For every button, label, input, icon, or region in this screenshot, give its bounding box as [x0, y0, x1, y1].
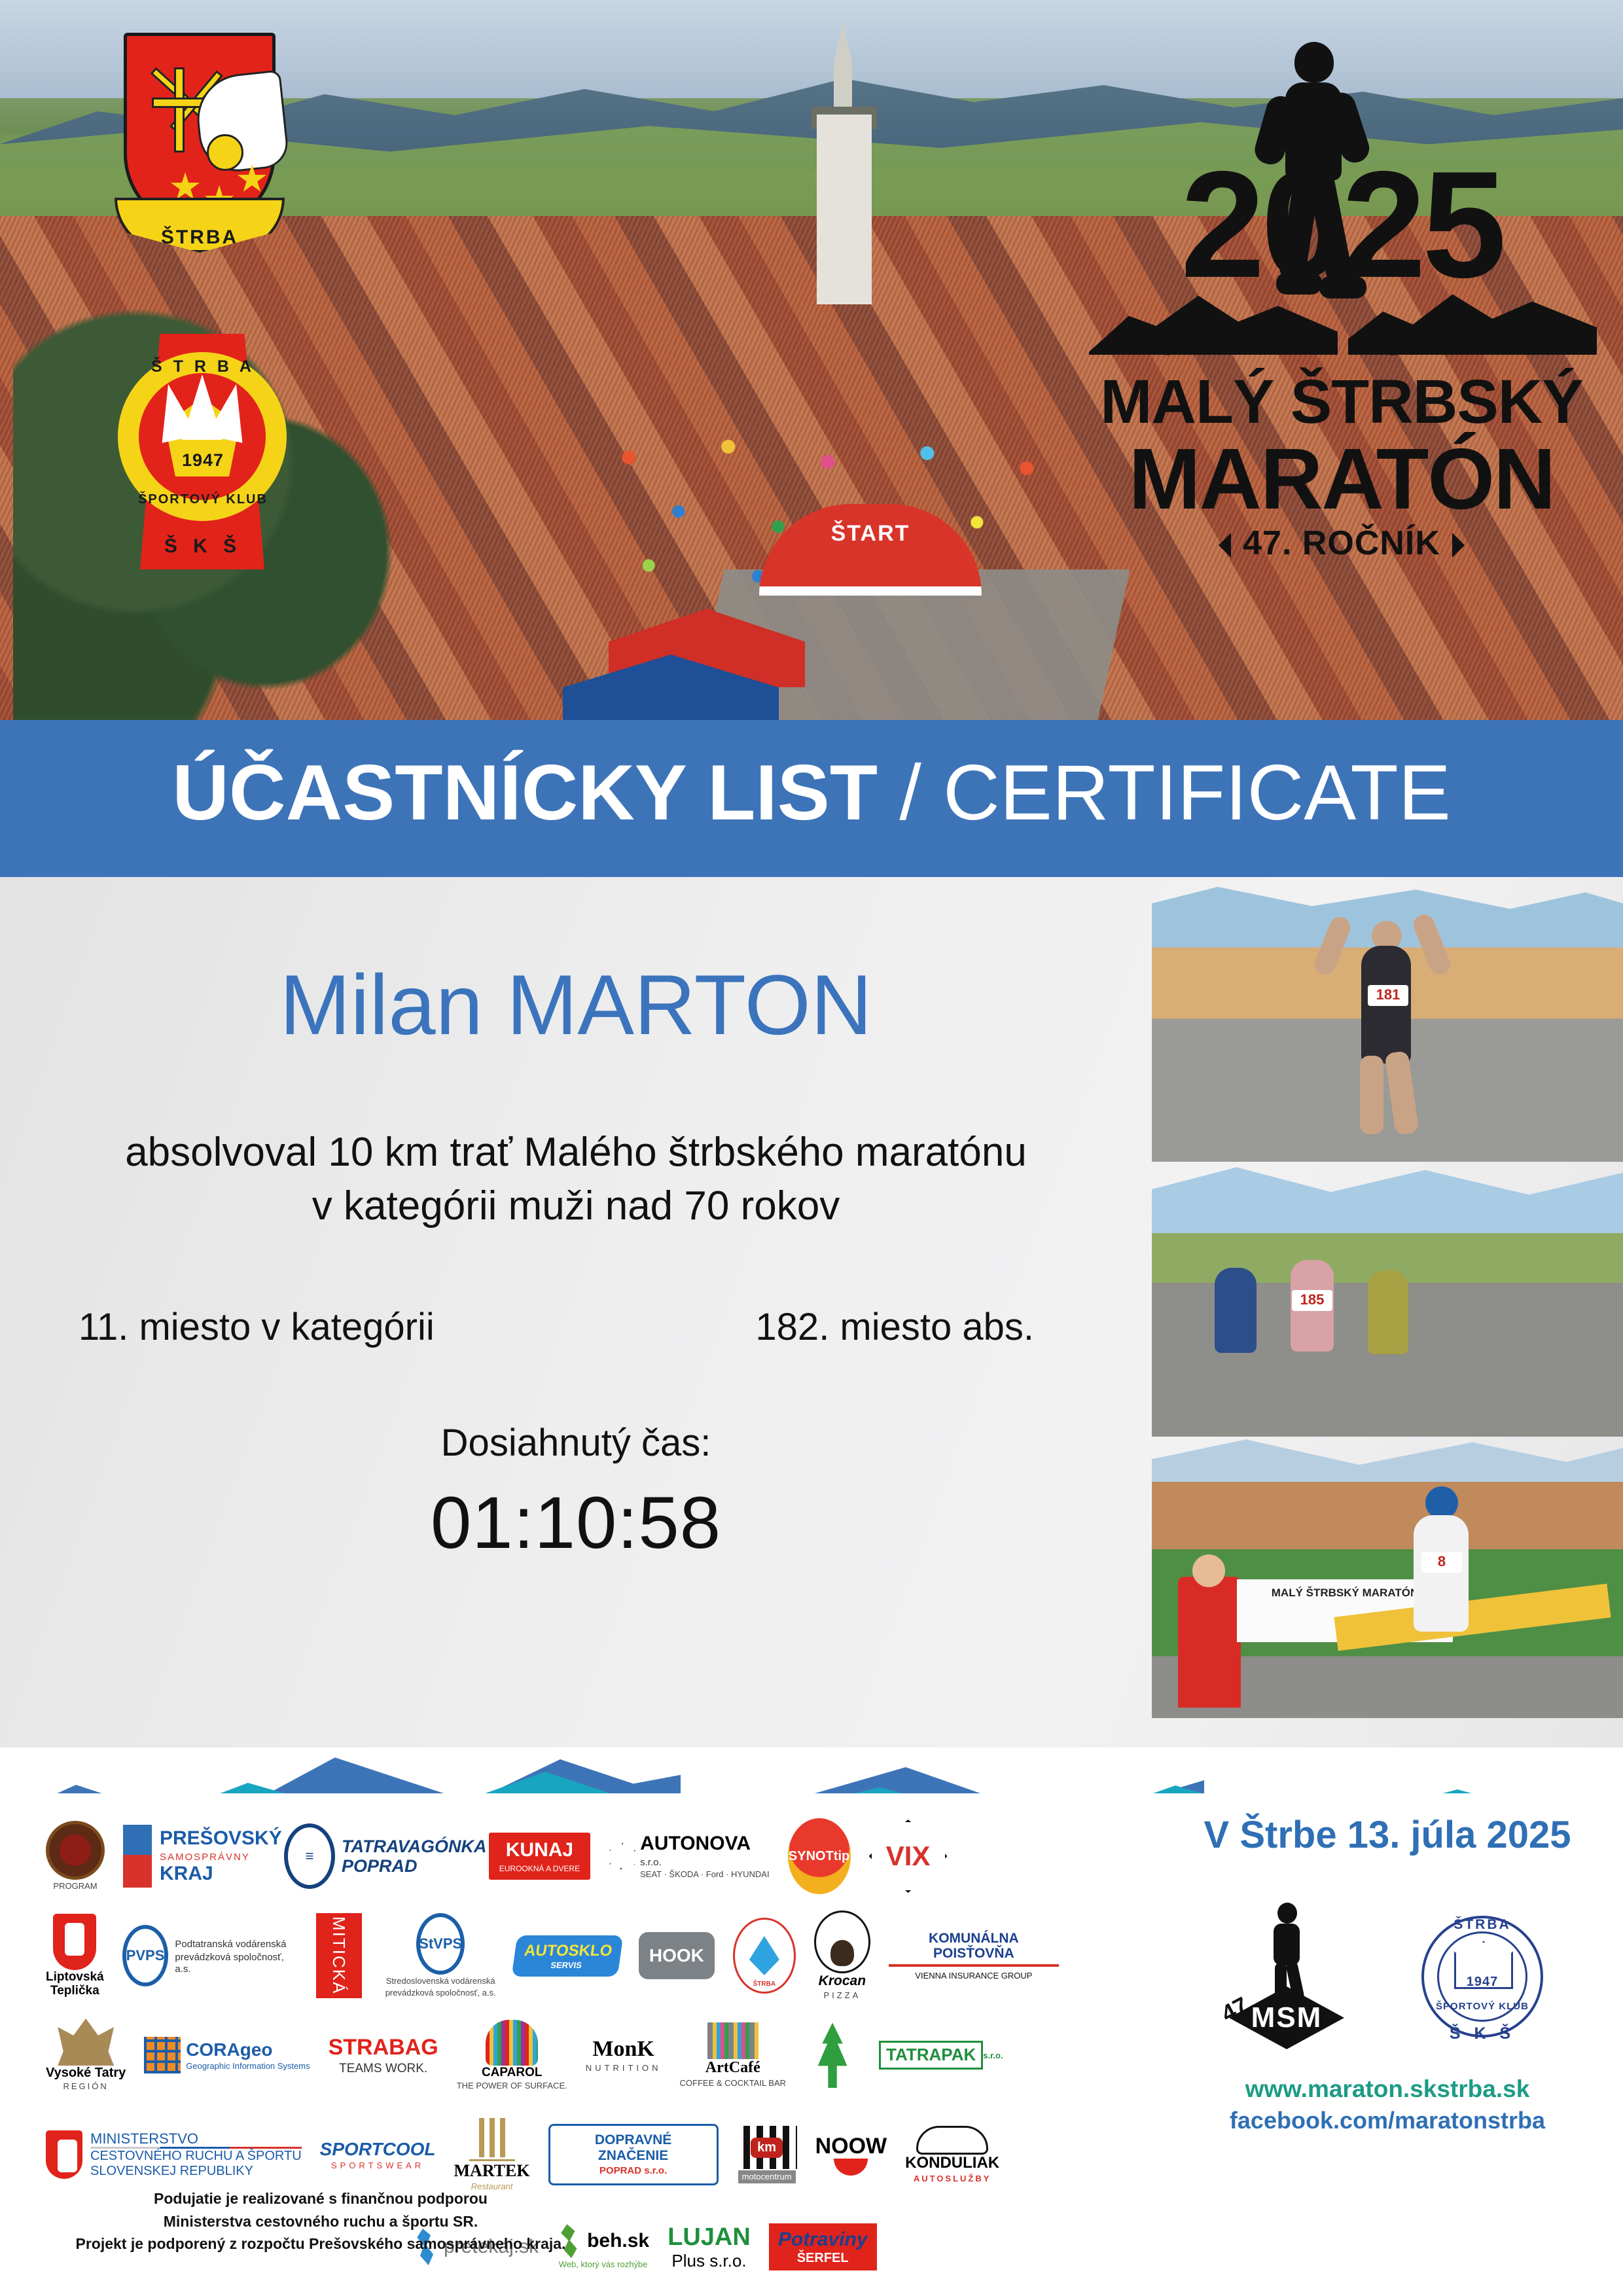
sponsor-sub: s.r.o.: [640, 1857, 769, 1868]
footer-stamps: 47. MSM ŠTRBA 1947 ŠPORTOVÝ KLUB Š K Š: [1171, 1903, 1603, 2053]
pd-strba-seal-icon: ŠTRBA: [733, 1918, 796, 1994]
sponsor-sub2: SLOVENSKEJ REPUBLIKY: [90, 2164, 302, 2178]
bib-number: 181: [1368, 985, 1408, 1006]
stamp-top-text: ŠTRBA: [1407, 1917, 1558, 1933]
church: [805, 23, 883, 304]
contact-urls: www.maraton.skstrba.sk facebook.com/mara…: [1171, 2075, 1603, 2134]
sponsor-name: TATRAVAGÓNKA: [342, 1837, 486, 1856]
facebook-url[interactable]: facebook.com/maratonstrba: [1171, 2107, 1603, 2134]
sponsor-sub: NUTRITION: [586, 2063, 662, 2073]
sponsor-potraviny-serfel[interactable]: Potraviny ŠERFEL: [769, 2223, 877, 2270]
bib-number: 8: [1421, 1552, 1462, 1573]
sponsor-name: TATRAPAK: [879, 2041, 983, 2069]
sponsor-name: AUTONOVA: [640, 1833, 769, 1855]
sponsor-autonova[interactable]: AUTONOVA s.r.o. SEAT · ŠKODA · Ford · HY…: [609, 1833, 769, 1879]
sponsor-strabag[interactable]: STRABAG TEAMS WORK.: [329, 2035, 438, 2076]
sponsor-dopravne-znacenie[interactable]: DOPRAVNÉ ZNAČENIE POPRAD s.r.o.: [548, 2124, 719, 2185]
sponsor-name: HOOK: [639, 1932, 715, 1979]
sponsor-sub: ŠERFEL: [778, 2251, 868, 2265]
runner-body: [1368, 1270, 1408, 1354]
sks-club-emblem: Š T R B A 1947 ŠPORTOVÝ KLUB Š K Š: [105, 327, 301, 576]
runner-leg: [1360, 1056, 1383, 1134]
sponsor-name: DOPRAVNÉ ZNAČENIE: [560, 2132, 707, 2163]
stamp-middle-text: ŠPORTOVÝ KLUB: [1407, 2001, 1558, 2012]
sponsor-name: Krocan: [819, 1973, 866, 1989]
sponsor-sub: CESTOVNÉHO RUCHU A ŠPORTU: [90, 2149, 302, 2163]
athlete-name: Milan MARTON: [39, 956, 1113, 1054]
runner-arm: [1410, 912, 1454, 978]
sponsor-sub: s.r.o.: [983, 2051, 1003, 2061]
church-body: [817, 115, 872, 304]
sponsor-sportcool[interactable]: SPORTCOOL SPORTSWEAR: [320, 2139, 436, 2171]
sponsor-name: StVPS: [416, 1913, 465, 1975]
finish-time: 01:10:58: [39, 1480, 1113, 1565]
footer-right-column: V Štrbe 13. júla 2025 47. MSM ŠTRBA 1947…: [1171, 1800, 1603, 2134]
sponsor-sub: TEAMS WORK.: [339, 2062, 427, 2076]
sponsor-sub: VIENNA INSURANCE GROUP: [915, 1971, 1032, 1981]
sponsor-sub2: prevádzková spoločnosť, a.s.: [175, 1952, 292, 1975]
sponsor-sub2: SEAT · ŠKODA · Ford · HYUNDAI: [640, 1869, 769, 1880]
sponsor-ministerstvo[interactable]: MINISTERSTVO CESTOVNÉHO RUCHU A ŠPORTU S…: [46, 2130, 302, 2179]
start-label: ŠTART: [759, 521, 982, 547]
sponsor-sub: ŠTRBA: [735, 1981, 794, 1988]
cutlery-icon: [469, 2118, 515, 2161]
sponsor-name: MonK: [592, 2037, 654, 2062]
photo-runners-on-course: 185: [1152, 1162, 1623, 1437]
sponsor-name: beh.sk: [587, 2230, 649, 2252]
footer: PROGRAM PREŠOVSKÝ SAMOSPRÁVNY KRAJ ≡: [0, 1793, 1623, 2296]
sponsor-monk[interactable]: MonK NUTRITION: [586, 2037, 662, 2073]
sponsor-lujan-plus[interactable]: LUJAN Plus s.r.o.: [668, 2223, 751, 2270]
psk-flag-icon: [123, 1825, 152, 1888]
sponsor-miticka[interactable]: MITICKÁ: [311, 1913, 367, 1998]
sponsor-name: km: [751, 2138, 783, 2158]
arrow-right-icon: [1452, 533, 1465, 558]
title-banner: ÚČASTNÍCKY LIST / CERTIFICATE: [0, 720, 1623, 890]
sponsor-pd-strba[interactable]: ŠTRBA: [733, 1918, 796, 1994]
sponsor-name: KOMUNÁLNA POISŤOVŇA: [889, 1931, 1059, 1962]
race-edition-wrap: 47. ROČNÍK: [1073, 524, 1610, 563]
sponsor-km-motocentrum[interactable]: km motocentrum: [737, 2126, 797, 2183]
sponsor-sub: PIZZA: [823, 1990, 861, 2001]
sponsor-sub: REGIÓN: [63, 2081, 109, 2092]
sponsor-sub: Geographic Information Systems: [186, 2061, 310, 2072]
sponsor-name: PREŠOVSKÝ: [160, 1827, 282, 1850]
sponsor-sub: SPORTSWEAR: [331, 2161, 424, 2171]
water-drop-icon: [749, 1936, 779, 1975]
car-icon: [916, 2126, 988, 2155]
sponsor-name: VIX: [869, 1820, 948, 1893]
sponsor-sub: SERVIS: [522, 1960, 611, 1970]
runner-arm: [1311, 914, 1353, 977]
sponsor-sub: EUROOKNÁ A DVERE: [499, 1864, 580, 1873]
website-url[interactable]: www.maraton.skstrba.sk: [1171, 2075, 1603, 2103]
sponsor-name: AUTOSKLO: [523, 1942, 613, 1960]
artcafe-cup-icon: [707, 2022, 758, 2059]
sponsor-name: MITICKÁ: [316, 1913, 362, 1998]
sponsor-row: Liptovská Teplička PVPS Podtatranská vod…: [46, 1906, 1158, 2005]
certificate-text-column: Milan MARTON absolvoval 10 km trať Maléh…: [39, 916, 1113, 1565]
funding-credits: Podujatie je realizované s finančnou pod…: [52, 2187, 589, 2255]
description-line2: v kategórii muži nad 70 rokov: [39, 1179, 1113, 1233]
sponsor-artcafe[interactable]: ArtCafé COFFEE & COCKTAIL BAR: [680, 2022, 787, 2088]
race-edition: 47. ROČNÍK: [1243, 524, 1440, 562]
title-separator: /: [878, 749, 943, 836]
sponsor-synottip[interactable]: SYNOTtip: [788, 1818, 851, 1894]
sponsor-hook[interactable]: HOOK: [639, 1932, 715, 1979]
sponsor-sub: Plus s.r.o.: [671, 2251, 746, 2270]
coa-cross-vertical-icon: [174, 67, 185, 152]
sponsor-corageo[interactable]: CORAgeo Geographic Information Systems: [144, 2037, 310, 2073]
sponsor-sub: AUTOSLUŽBY: [914, 2174, 991, 2184]
race-title-line1: MALÝ ŠTRBSKÝ: [1073, 367, 1610, 438]
program-seal-icon: [46, 1821, 105, 1880]
sponsor-liptovska-teplicka[interactable]: Liptovská Teplička: [46, 1914, 104, 1998]
bib-number: 185: [1292, 1290, 1332, 1311]
arrow-left-icon: [1219, 533, 1231, 558]
sponsor-name: LUJAN: [668, 2223, 751, 2251]
sponsor-sub: Podtatranská vodárenská: [175, 1939, 292, 1950]
sponsor-vix[interactable]: VIX: [869, 1820, 948, 1893]
sponsor-name: SPORTCOOL: [320, 2139, 436, 2159]
credits-line1: Podujatie je realizované s finančnou pod…: [52, 2187, 589, 2210]
noow-smile-icon: [834, 2159, 868, 2176]
edelweiss-icon: [58, 2018, 114, 2066]
sponsor-program-trencin[interactable]: PROGRAM: [46, 1821, 105, 1892]
sponsor-sub: motocentrum: [738, 2170, 796, 2183]
sponsor-caparol[interactable]: CAPAROL THE POWER OF SURFACE.: [457, 2020, 567, 2091]
sponsor-sub2: prevádzková spoločnosť, a.s.: [385, 1988, 496, 1998]
liptovska-crest-icon: [53, 1914, 96, 1970]
sks-middle-text: ŠPORTOVÝ KLUB: [105, 492, 301, 507]
placements: 11. miesto v kategórii 182. miesto abs.: [79, 1305, 1034, 1349]
sponsor-sub: SAMOSPRÁVNY: [160, 1852, 282, 1863]
turkey-icon: [814, 1910, 870, 1973]
sponsor-sub: THE POWER OF SURFACE.: [457, 2081, 567, 2091]
runner-body: [1215, 1268, 1257, 1353]
sponsor-name: CORAgeo: [186, 2039, 310, 2060]
sks-stamp: ŠTRBA 1947 ŠPORTOVÝ KLUB Š K Š: [1407, 1903, 1558, 2053]
sponsor-name: PVPS: [122, 1925, 169, 1986]
page-title: ÚČASTNÍCKY LIST / CERTIFICATE: [0, 747, 1623, 838]
corageo-grid-icon: [144, 2037, 181, 2073]
sponsor-sub: POPRAD: [342, 1856, 486, 1876]
sponsor-autosklo[interactable]: AUTOSKLO SERVIS: [514, 1935, 620, 1977]
sponsor-name: KUNAJ: [506, 1839, 573, 1861]
sponsor-konduliak[interactable]: KONDULIAK AUTOSLUŽBY: [905, 2126, 999, 2183]
sponsor-name: PROGRAM: [53, 1881, 97, 1892]
race-title-line2: MARATÓN: [1073, 429, 1610, 528]
credits-line2: Ministerstva cestovného ruchu a športu S…: [52, 2210, 589, 2233]
certificate-description: absolvoval 10 km trať Malého štrbského m…: [39, 1126, 1113, 1233]
girl-head: [1192, 1554, 1225, 1587]
runner-silhouette-icon: [1260, 1903, 1311, 2001]
sponsor-name: ArtCafé: [705, 2059, 760, 2077]
sponsor-tatravagonka[interactable]: ≡ TATRAVAGÓNKA POPRAD: [300, 1823, 471, 1889]
race-logo: 2025 31 km 10 km MALÝ ŠTRBSKÝ MARATÓN 47…: [1073, 39, 1610, 602]
winner-head: [1425, 1486, 1458, 1519]
event-date: V Štrbe 13. júla 2025: [1171, 1813, 1603, 1857]
sks-bottom-text: Š K Š: [105, 535, 301, 558]
sponsor-tatrapak[interactable]: TATRAPAK s.r.o.: [879, 2041, 1003, 2069]
caparol-elephant-icon: [486, 2020, 538, 2066]
sponsor-name: KONDULIAK: [905, 2155, 999, 2172]
stamp-year: 1947: [1407, 1975, 1558, 1990]
credits-line3: Projekt je podporený z rozpočtu Prešovsk…: [52, 2233, 589, 2255]
stamp-bottom-text: Š K Š: [1407, 2024, 1558, 2043]
sponsor-name: MARTEK: [454, 2161, 530, 2180]
winner-body: [1414, 1515, 1469, 1632]
sponsor-krocan-pizza[interactable]: Krocan PIZZA: [814, 1910, 870, 2000]
certificate-page: ŠTART ŠTRBA Š T R B A 1947 ŠPORTOV: [0, 0, 1623, 2296]
sks-year-text: 1947: [105, 450, 301, 471]
sponsor-kunaj[interactable]: KUNAJ EUROOKNÁ A DVERE: [489, 1833, 590, 1880]
coa-ribbon: ŠTRBA: [115, 198, 285, 253]
sponsor-name: CAPAROL: [482, 2066, 543, 2079]
sponsor-komunalna-poistovna[interactable]: KOMUNÁLNA POISŤOVŇA VIENNA INSURANCE GRO…: [889, 1931, 1059, 1981]
sponsor-martek[interactable]: MARTEK Restaurant: [454, 2118, 530, 2192]
msm-stamp: 47. MSM: [1217, 1903, 1355, 2053]
runner-leg: [1384, 1050, 1419, 1136]
sponsor-vysoke-tatry[interactable]: Vysoké Tatry REGIÓN: [46, 2018, 126, 2092]
sponsor-name: Potraviny: [778, 2229, 868, 2251]
sponsor-sub: COFFEE & COCKTAIL BAR: [680, 2078, 787, 2089]
race-year: 2025: [1073, 149, 1610, 301]
sponsor-sub: Stredoslovenská vodárenská: [386, 1976, 495, 1986]
title-sk: ÚČASTNÍCKY LIST: [172, 749, 878, 836]
strba-coat-of-arms: ŠTRBA: [115, 33, 285, 262]
sponsor-name: Vysoké Tatry: [46, 2066, 126, 2080]
sponsor-name: MINISTERSTVO: [90, 2131, 302, 2147]
sponsor-sub: POPRAD s.r.o.: [560, 2165, 707, 2176]
photo-collage: 181 185 MALÝ ŠTRBSKÝ MARATÓN 8: [1152, 887, 1623, 1718]
time-label: Dosiahnutý čas:: [39, 1421, 1113, 1465]
kunaj-box: KUNAJ EUROOKNÁ A DVERE: [489, 1833, 590, 1880]
sponsor-pvps[interactable]: PVPS Podtatranská vodárenská prevádzková…: [122, 1925, 293, 1986]
sponsor-name: NOOW: [815, 2134, 887, 2159]
description-line1: absolvoval 10 km trať Malého štrbského m…: [39, 1126, 1113, 1179]
sponsor-name: STRABAG: [329, 2035, 438, 2060]
title-en: CERTIFICATE: [943, 749, 1451, 836]
sponsor-sub: Teplička: [50, 1984, 99, 1998]
autonova-star-icon: [609, 1842, 636, 1870]
sponsor-noow[interactable]: NOOW: [815, 2134, 887, 2176]
coa-ribbon-text: ŠTRBA: [117, 226, 282, 249]
absolute-place: 182. miesto abs.: [755, 1305, 1034, 1349]
sponsor-ps-urbar-strba[interactable]: PS URBÁR ŠTRBA: [804, 2022, 861, 2087]
sponsor-name: SYNOTtip: [788, 1818, 851, 1894]
sponsor-row: Vysoké Tatry REGIÓN CORAgeo Geographic I…: [46, 2005, 1158, 2105]
checkered-flag-icon: km: [737, 2126, 797, 2169]
sponsor-sub2: KRAJ: [160, 1863, 282, 1885]
sks-top-text: Š T R B A: [105, 357, 301, 376]
coa-cuff-icon: [207, 134, 243, 171]
category-place: 11. miesto v kategórii: [79, 1305, 435, 1349]
photo-finishing-runner: 181: [1152, 887, 1623, 1162]
tatravagonka-mark-icon: ≡: [284, 1823, 335, 1889]
msm-abbr: MSM: [1251, 2001, 1323, 2034]
sponsor-sub: Web, ktorý vás rozhýbe: [559, 2259, 648, 2270]
sponsor-presovsky-kraj[interactable]: PREŠOVSKÝ SAMOSPRÁVNY KRAJ: [123, 1825, 282, 1888]
sponsor-name: Liptovská: [46, 1970, 104, 1984]
slovak-crest-icon: [46, 2130, 82, 2179]
sponsor-row: PROGRAM PREŠOVSKÝ SAMOSPRÁVNY KRAJ ≡: [46, 1806, 1158, 1906]
sponsor-stvps[interactable]: StVPS Stredoslovenská vodárenská prevádz…: [385, 1913, 496, 1998]
